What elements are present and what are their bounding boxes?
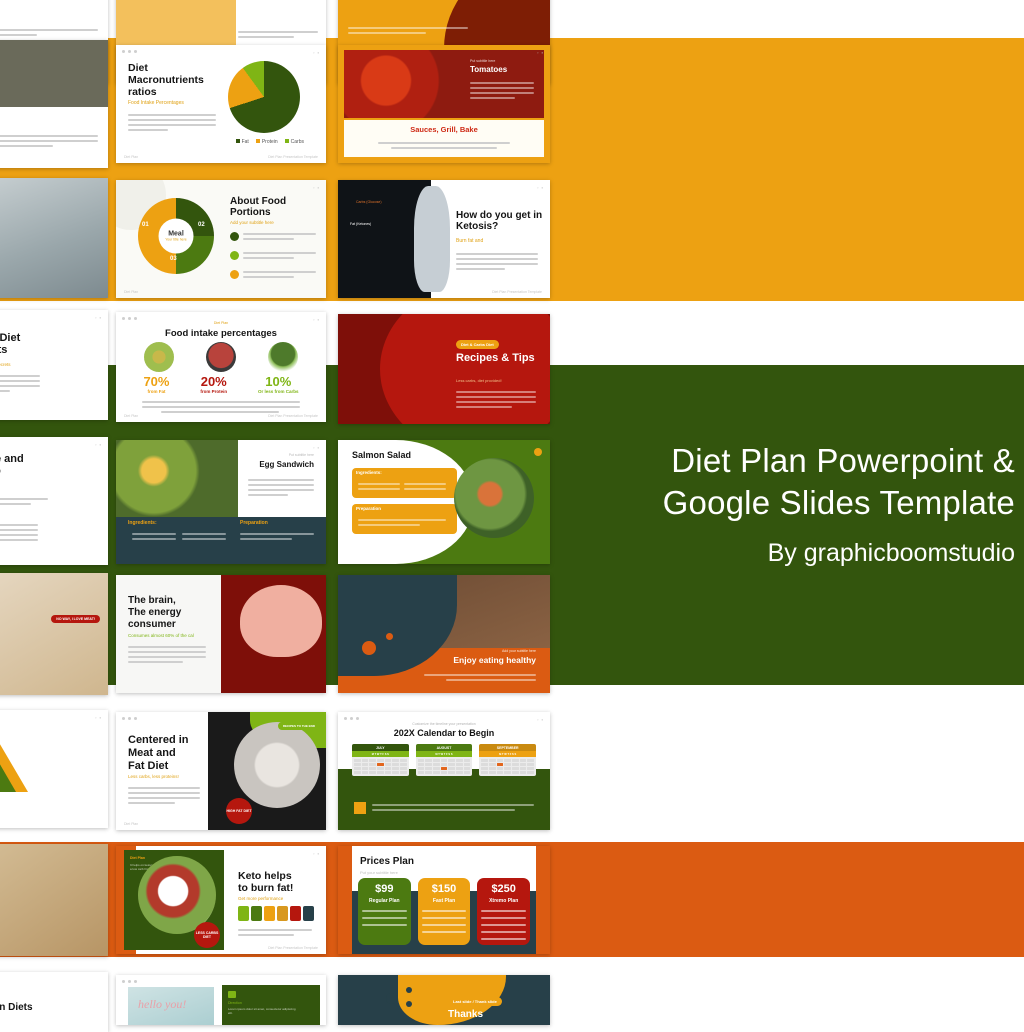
ingredients-label: Ingredients:: [128, 520, 157, 526]
slide-thumbnail-thanks[interactable]: Last slide / Thank slide Thanks: [338, 975, 550, 1025]
preparation-label: Preparation: [240, 520, 268, 526]
ketosis-label-carbs: Carbs (Glucose): [356, 200, 381, 204]
slide-eyebrow: Put subtitle here: [289, 453, 314, 457]
window-dots-icon: [122, 50, 137, 53]
price-amount: $150: [418, 883, 471, 895]
ketosis-label-fat: Fat (Ketones): [350, 222, 371, 226]
high-fat-diet-badge: HIGH FAT DIET: [226, 798, 252, 824]
slide-title: Egg Sandwich: [259, 460, 314, 469]
slide-title: About Food Portions: [230, 196, 316, 218]
direction-body: Lorem ipsum dolor sit amet, consectetur …: [228, 1007, 298, 1015]
direction-title: Direction: [228, 1001, 242, 1005]
slide-subtitle: Less carbs, less proteins!: [128, 774, 179, 779]
slide-thumbnail-cat[interactable]: [0, 844, 108, 956]
slide-corner-icon: ▫ ▪: [313, 851, 320, 856]
slide-thumbnail-brain[interactable]: The brain, The energy consumer Consumes …: [116, 575, 326, 693]
slide-thumbnail-grid: Diet Plan Presentation Template Diet Pla…: [0, 0, 560, 1024]
intake-percentages: 70%from Fat 20%from Protein 10%Or less f…: [128, 374, 314, 394]
slide-title: Recipes & Tips: [456, 352, 536, 364]
price-plan-name: Xtremo Plan: [477, 898, 530, 904]
slide-tag: RECIPES TO THE END: [278, 722, 320, 730]
calendar-month-name: SEPTEMBER: [479, 744, 536, 751]
slide-thumbnail-food-portions[interactable]: ▫ ▪ Meal Your title here 01 02 03 About …: [116, 180, 326, 298]
slide-corner-icon: ▫ ▪: [537, 185, 544, 190]
slide-title: 202X Calendar to Begin: [338, 728, 550, 738]
slide-subtitle: Add your subtitle here: [230, 220, 316, 225]
slide-thumbnail-salmon-salad[interactable]: Salmon Salad Ingredients: Preparation: [338, 440, 550, 564]
slide-title: Prices Plan: [360, 856, 414, 867]
slide-thumbnail-steps[interactable]: ▫ ▪ Your title Step 1: [0, 710, 108, 828]
less-carbs-badge: LESS CARBS DIET: [194, 922, 220, 948]
slide-footer-right: Diet Plan Presentation Template: [492, 290, 542, 294]
slide-thumbnail-hello[interactable]: hello you! Direction Lorem ipsum dolor s…: [116, 975, 326, 1025]
slide-footer-left: Diet Plan: [124, 414, 138, 418]
slide-eyebrow: Put subtitle here: [470, 59, 495, 63]
slide-subtitle: The vegetables secrets: [0, 362, 11, 367]
food-portions-donut-diagram: Meal Your title here: [138, 198, 214, 274]
slide-thumbnail-recipes[interactable]: Diet & Carbs Diet Recipes & Tips Less ca…: [338, 314, 550, 424]
slide-title: Thanks: [448, 1009, 483, 1020]
supplement-bottles: [238, 906, 314, 921]
slide-eyebrow: Add your subtitle here: [502, 649, 536, 653]
slide-thumbnail-ketosis[interactable]: Carbs (Glucose) Fat (Ketones) ▫ ▪ How do…: [338, 180, 550, 298]
preparation-label: Preparation: [356, 506, 381, 511]
page-title-line-1: Diet Plan Powerpoint &: [671, 442, 1015, 479]
intake-value: 20%: [200, 374, 227, 389]
slide-corner-icon: ▫ ▪: [313, 445, 320, 450]
calendar-month[interactable]: SEPTEMBER M T W T F S S: [479, 744, 536, 776]
slide-title: The brain, The energy consumer: [128, 595, 181, 631]
price-card[interactable]: $250 Xtremo Plan: [477, 878, 530, 945]
meat-image: [206, 342, 236, 372]
slide-title: Food intake percentages: [116, 328, 326, 339]
slide-corner-icon: ▫ ▪: [313, 185, 320, 190]
slide-eyebrow: Diet Plan: [116, 321, 326, 325]
step-number: 02: [198, 222, 205, 228]
slide-footer-right: Diet Plan Presentation Template: [268, 414, 318, 418]
price-amount: $99: [358, 883, 411, 895]
slide-title: Centered in Meat and Fat Diet: [128, 734, 189, 773]
price-card[interactable]: $99 Regular Plan: [358, 878, 411, 945]
hero-text-block: Diet Plan Powerpoint & Google Slides Tem…: [575, 440, 1015, 568]
slide-thumbnail-prices[interactable]: Prices Plan Put your subtitle here $99 R…: [338, 846, 550, 954]
slide-corner-icon: ▫ ▪: [537, 50, 544, 55]
intake-label: Or less from Carbs: [258, 389, 299, 394]
slide-subtitle: Less carbs, diet provided!: [456, 378, 502, 383]
slide-corner-icon: ▫ ▪: [95, 315, 102, 320]
slide-footer-right: Diet Plan Presentation Template: [268, 946, 318, 950]
slide-footer-left: Diet Plan: [124, 822, 138, 826]
page-title-line-2: Google Slides Template: [663, 484, 1015, 521]
step-number: 03: [170, 256, 177, 262]
byline: By graphicboomstudio: [575, 539, 1015, 568]
slide-badge: NO WAY, I LOVE MEAT!: [51, 615, 100, 623]
image-icon: [228, 991, 236, 998]
slide-title: Enjoy eating healthy: [453, 655, 536, 665]
slide-title: Lettuce and Tomato: [0, 453, 58, 478]
donut-center-label: Meal: [168, 230, 184, 237]
slide-thumbnail-yoga[interactable]: [0, 178, 108, 298]
window-dots-icon: [122, 717, 137, 720]
window-dots-icon: [344, 717, 359, 720]
macronutrient-pie-chart: [228, 61, 300, 133]
slide-footer-left: Diet Plan: [124, 290, 138, 294]
broccoli-image: [268, 342, 298, 372]
slide-footer-left: Diet Plan: [124, 155, 138, 159]
intake-value: 70%: [143, 374, 169, 389]
price-plan-name: Fast Plan: [418, 898, 471, 904]
slide-tag: Last slide / Thank slide: [448, 997, 502, 1006]
slide-subtitle: Get more performance: [238, 896, 283, 901]
intake-value: 10%: [258, 374, 299, 389]
intake-label: from Protein: [200, 389, 227, 394]
slide-tag: Diet & Carbs Diet: [456, 340, 499, 349]
ingredients-label: Ingredients:: [356, 470, 382, 475]
calendar-month[interactable]: AUGUST M T W T F S S: [416, 744, 473, 776]
price-plan-name: Regular Plan: [358, 898, 411, 904]
intake-label: from Fat: [143, 389, 169, 394]
slide-eyebrow: Customize the timeline your presentation: [338, 722, 550, 726]
slide-thumbnail-vegan[interactable]: ▫ ▪ Vegan Diet Benefits The vegetables s…: [0, 310, 108, 420]
slide-thumbnail-enjoy[interactable]: Add your subtitle here Enjoy eating heal…: [338, 575, 550, 693]
slide-thumbnail-other-diets[interactable]: Other Common Diets: [0, 972, 108, 1032]
slide-thumbnail-egg-sandwich[interactable]: ▫ ▪ Put subtitle here Egg Sandwich Ingre…: [116, 440, 326, 564]
calendar-month-name: AUGUST: [416, 744, 473, 751]
slide-thumbnail-keto[interactable]: Diet Plan It helps on ketogenic diet and…: [116, 846, 326, 954]
window-dots-icon: [122, 317, 137, 320]
slide-thumbnail-calendar[interactable]: ▫ ▪ Customize the timeline your presenta…: [338, 712, 550, 830]
step-number: 01: [142, 222, 149, 228]
page-title: Diet Plan Powerpoint & Google Slides Tem…: [575, 440, 1015, 523]
hello-script-text: hello you!: [138, 997, 186, 1012]
slide-corner-icon: ▫ ▪: [313, 50, 320, 55]
slide-title: Salmon Salad: [352, 450, 411, 460]
slide-title: Other Common Diets: [0, 990, 33, 1014]
slide-thumbnail-meat-fat[interactable]: RECIPES TO THE END HIGH FAT DIET Centere…: [116, 712, 326, 830]
slide-subtitle: Consumes almost 60% of the cal: [128, 633, 194, 638]
slide-title: Vegan Diet Benefits: [0, 332, 64, 357]
avocado-image: [144, 342, 174, 372]
calendar-month-name: JULY: [352, 744, 409, 751]
slide-subtitle: Food Intake Percentages: [128, 100, 184, 106]
slide-thumbnail-tomatoes[interactable]: ▫ ▪ Put subtitle here Tomatoes Sauces, G…: [338, 45, 550, 163]
keto-panel-title: Diet Plan: [130, 856, 145, 860]
price-amount: $250: [477, 883, 530, 895]
donut-center-sub: Your title here: [165, 237, 186, 241]
slide-thumbnail-no-way[interactable]: NO WAY, I LOVE MEAT!: [0, 573, 108, 695]
window-dots-icon: [122, 980, 137, 983]
slide-subtitle: Put your subtitle here: [360, 870, 398, 875]
slide-subtitle: Burn fat and: [456, 238, 483, 244]
pie-chart-legend: Fat Protein Carbs: [236, 139, 304, 145]
slide-thumbnail-food-intake[interactable]: ▫ ▪ Diet Plan Food intake percentages 70…: [116, 312, 326, 422]
slide-corner-icon: ▫ ▪: [95, 715, 102, 720]
steak-image: [234, 722, 320, 808]
slide-corner-icon: ▫ ▪: [95, 442, 102, 447]
slide-title: Diet Macronutrients ratios: [128, 63, 223, 98]
slide-thumbnail-macronutrients[interactable]: ▫ ▪ Diet Macronutrients ratios Food Inta…: [116, 45, 326, 163]
slide-banner: Sauces, Grill, Bake: [338, 125, 550, 134]
slide-title: How do you get in Ketosis?: [456, 210, 544, 232]
slide-title: Keto helps to burn fat!: [238, 870, 293, 895]
calendar-month[interactable]: JULY M T W T F S S: [352, 744, 409, 776]
slide-title: Tomatoes: [470, 65, 507, 74]
salad-image: [454, 458, 534, 538]
slide-thumbnail-lettuce[interactable]: ▫ ▪ Lettuce and Tomato Less than 200 Cal…: [0, 437, 108, 565]
price-card[interactable]: $150 Fast Plan: [418, 878, 471, 945]
slide-footer-right: Diet Plan Presentation Template: [268, 155, 318, 159]
slide-thumbnail-protein[interactable]: PROTEIN: [0, 40, 108, 168]
